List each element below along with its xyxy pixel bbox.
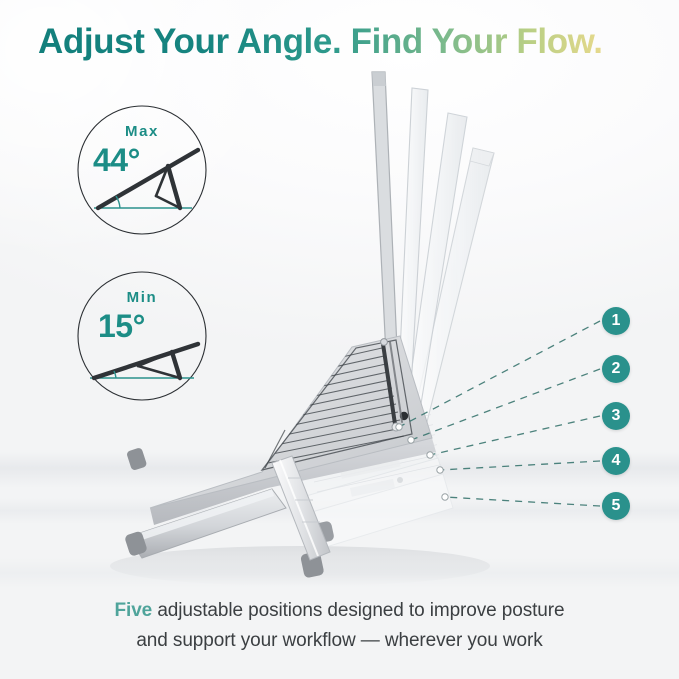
position-marker-2[interactable]: 2: [602, 355, 630, 383]
position-marker-4[interactable]: 4: [602, 447, 630, 475]
badge-min-angle: Min 15°: [76, 270, 208, 402]
position-marker-3[interactable]: 3: [602, 402, 630, 430]
badge-max-label: Max: [76, 123, 208, 140]
caption-line-1: Five adjustable positions designed to im…: [0, 596, 679, 626]
badge-min-label: Min: [76, 289, 208, 306]
position-marker-5[interactable]: 5: [602, 492, 630, 520]
badge-max-value: 44°: [93, 142, 140, 179]
position-marker-1[interactable]: 1: [602, 307, 630, 335]
badge-max-angle: Max 44°: [76, 104, 208, 236]
caption-accent: Five: [115, 600, 153, 621]
product-infographic: Adjust Your Angle. Find Your Flow.: [0, 0, 679, 679]
caption-line-1-rest: adjustable positions designed to improve…: [152, 600, 564, 621]
caption-line-2: and support your workflow — wherever you…: [0, 626, 679, 656]
caption: Five adjustable positions designed to im…: [0, 596, 679, 656]
badge-min-value: 15°: [98, 308, 145, 345]
